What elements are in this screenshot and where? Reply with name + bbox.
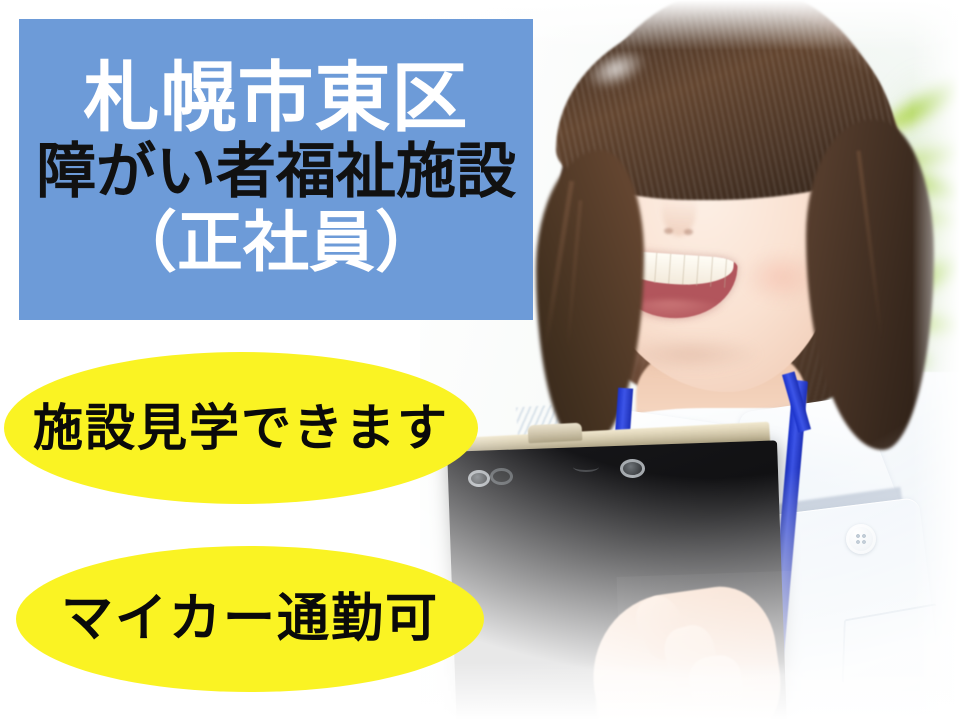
- nostril: [684, 229, 693, 235]
- headline-line-location: 札幌市東区: [84, 60, 469, 136]
- clipboard-rivet: [490, 468, 513, 485]
- uniform-button: [846, 524, 876, 554]
- badge-car-commute-label: マイカー通勤可: [61, 593, 439, 645]
- chin-shadow: [620, 336, 760, 372]
- clipboard-rivet: [468, 470, 490, 487]
- badge-facility-tour: 施設見学できます: [4, 352, 478, 504]
- headline-box: 札幌市東区 障がい者福祉施設 （正社員）: [19, 19, 533, 320]
- job-ad-poster: 札幌市東区 障がい者福祉施設 （正社員） 施設見学できます マイカー通勤可: [0, 0, 960, 720]
- nostril: [664, 228, 673, 234]
- clipboard-rivet: [620, 459, 645, 478]
- badge-car-commute: マイカー通勤可: [16, 546, 484, 692]
- clipboard-mark: [573, 462, 599, 472]
- headline-line-employment-type: （正社員）: [111, 210, 441, 276]
- headline-line-facility: 障がい者福祉施設: [36, 142, 516, 202]
- clipboard-clamp: [528, 423, 583, 444]
- badge-facility-tour-label: 施設見学できます: [33, 403, 449, 453]
